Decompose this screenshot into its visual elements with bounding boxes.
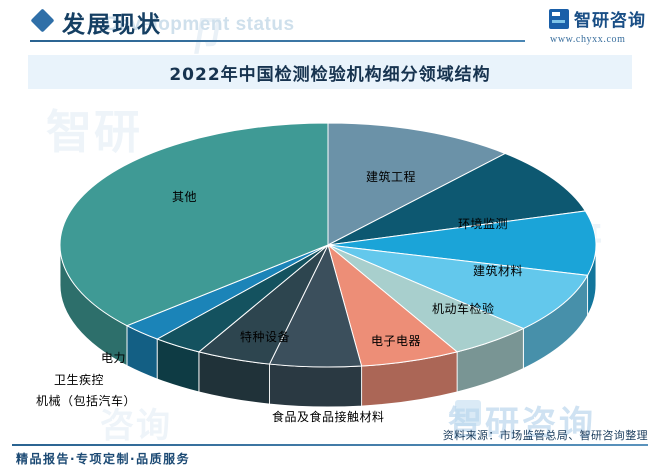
footer-divider — [12, 444, 648, 446]
brand-mark-icon — [549, 9, 569, 29]
slice-label-huanjingjiance: 环境监测 — [458, 215, 508, 232]
diamond-icon — [30, 8, 54, 32]
source-note: 资料来源：市场监管总局、智研咨询整理 — [443, 427, 648, 443]
slide-page: 卩 智研 智研 智研咨询 咨询 Development status 发展现状 … — [0, 0, 660, 469]
slice-label-qita: 其他 — [172, 188, 197, 205]
pie-chart: 建筑工程 环境监测 建筑材料 机动车检验 电子电器 食品及食品接触材料 特种设备… — [0, 95, 660, 425]
slice-label-dianli: 电力 — [101, 349, 126, 366]
footer-tagline: 精品报告·专项定制·品质服务 — [16, 450, 190, 467]
chart-title: 2022年中国检测检验机构细分领域结构 — [28, 55, 632, 89]
slice-label-jixie: 机械（包括汽车） — [36, 392, 136, 409]
slide-header: Development status 发展现状 智研咨询 www.chyxx.c… — [0, 0, 660, 48]
brand-name: 智研咨询 — [574, 6, 646, 31]
slice-label-dianzidianqi: 电子电器 — [371, 332, 421, 349]
slice-label-tezhongshebei: 特种设备 — [240, 328, 290, 345]
pie-top-faces — [60, 123, 596, 367]
slice-label-jidongchejianyan: 机动车检验 — [432, 300, 495, 317]
header-divider — [30, 40, 525, 42]
brand-url[interactable]: www.chyxx.com — [549, 34, 646, 45]
brand-logo[interactable]: 智研咨询 www.chyxx.com — [549, 6, 646, 45]
chart-title-band: 2022年中国检测检验机构细分领域结构 — [28, 55, 632, 89]
slice-label-weishengjikong: 卫生疾控 — [54, 371, 104, 388]
pie-slice-side — [270, 364, 362, 407]
page-title: 发展现状 — [62, 5, 162, 39]
slice-label-shipin: 食品及食品接触材料 — [272, 408, 385, 425]
slice-label-jianzhugongcheng: 建筑工程 — [366, 168, 416, 185]
slice-label-jianzhucailiao: 建筑材料 — [473, 262, 523, 279]
